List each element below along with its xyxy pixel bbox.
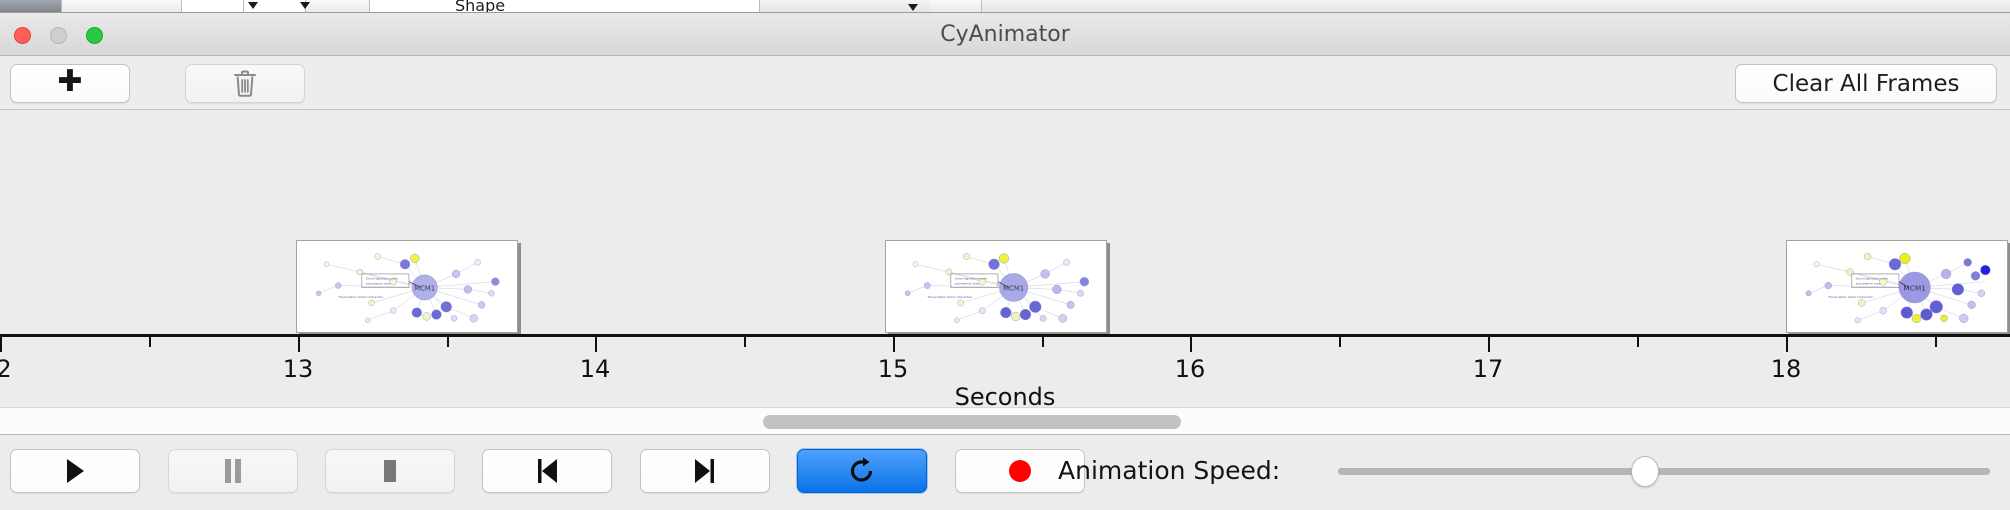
svg-text:MCM1: MCM1	[1003, 284, 1024, 292]
axis-tick-major	[595, 334, 597, 352]
axis-tick-minor	[1339, 337, 1341, 347]
skip-forward-icon	[693, 458, 717, 484]
loop-icon	[849, 457, 875, 485]
timeline-axis	[0, 334, 2010, 337]
bg-segment	[0, 0, 62, 13]
network-graph-preview: MCM1	[299, 243, 515, 330]
add-frame-button[interactable]: ✚	[10, 64, 130, 103]
delete-frame-button[interactable]	[185, 64, 305, 103]
cyanimator-window: Shape CyAnimator ✚ Clear All Frames	[0, 0, 2010, 510]
timeline-scrollbar[interactable]	[0, 407, 2010, 435]
network-graph-preview: MCM1	[888, 243, 1104, 330]
scrollbar-thumb[interactable]	[763, 415, 1181, 429]
skip-forward-button[interactable]	[640, 449, 770, 493]
axis-tick-major	[1488, 334, 1490, 352]
axis-tick-major	[1786, 334, 1788, 352]
axis-tick-minor	[1637, 337, 1639, 347]
axis-tick-major	[1190, 334, 1192, 352]
svg-text:Gene regulatory node: Gene regulatory node	[1856, 277, 1888, 281]
frame-thumbnail[interactable]: MCM1	[1786, 240, 2008, 333]
axis-tick-minor	[744, 337, 746, 347]
svg-text:Gene regulatory node: Gene regulatory node	[955, 277, 987, 281]
page-title: CyAnimator	[0, 13, 2010, 56]
bg-marker-icon	[300, 2, 310, 9]
background-window[interactable]: Shape	[0, 0, 2010, 13]
svg-text:MCM1: MCM1	[1903, 283, 1926, 292]
stop-icon	[380, 458, 400, 484]
stop-button[interactable]	[325, 449, 455, 493]
slider-track	[1338, 468, 1990, 475]
toolbar: ✚ Clear All Frames	[0, 56, 2010, 110]
network-graph-preview: MCM1	[1789, 243, 2005, 330]
animation-speed-slider[interactable]	[1338, 449, 1990, 493]
timeline-panel[interactable]: MCM1	[0, 110, 2010, 407]
svg-text:Transcription factor interacti: Transcription factor interaction	[1827, 295, 1873, 299]
axis-tick-label: 13	[283, 355, 314, 383]
axis-tick-major	[298, 334, 300, 352]
axis-tick-minor	[149, 337, 151, 347]
svg-text:subnetwork view: subnetwork view	[1856, 282, 1881, 286]
axis-tick-minor	[1042, 337, 1044, 347]
skip-backward-icon	[535, 458, 559, 484]
axis-tick-label: 15	[878, 355, 909, 383]
svg-text:Transcription factor interacti: Transcription factor interaction	[337, 295, 383, 299]
axis-tick-label: 16	[1175, 355, 1206, 383]
play-icon	[64, 458, 86, 484]
svg-text:subnetwork view: subnetwork view	[955, 282, 980, 286]
frame-thumbnail[interactable]: MCM1	[885, 240, 1107, 333]
plus-icon: ✚	[57, 67, 82, 97]
bg-segment	[370, 0, 760, 13]
play-button[interactable]	[10, 449, 140, 493]
skip-backward-button[interactable]	[482, 449, 612, 493]
bg-marker-icon	[908, 4, 918, 11]
pause-button[interactable]	[168, 449, 298, 493]
axis-tick-minor	[1935, 337, 1937, 347]
loop-button[interactable]	[797, 449, 927, 493]
axis-tick-minor	[447, 337, 449, 347]
axis-tick-label: 18	[1771, 355, 1802, 383]
pause-icon	[223, 458, 243, 484]
axis-tick-label: 14	[580, 355, 611, 383]
axis-title: Seconds	[0, 383, 2010, 407]
bg-segment	[306, 0, 370, 13]
clear-all-frames-button[interactable]: Clear All Frames	[1735, 64, 1997, 103]
playback-bar: Animation Speed:	[0, 436, 2010, 510]
animation-speed-label: Animation Speed:	[1058, 449, 1280, 493]
axis-tick-label: 2	[0, 355, 12, 383]
axis-tick-major	[0, 334, 2, 352]
slider-thumb[interactable]	[1631, 456, 1659, 487]
svg-text:subnetwork view: subnetwork view	[366, 282, 391, 286]
bg-segment	[182, 0, 244, 13]
svg-text:Gene regulatory node: Gene regulatory node	[366, 277, 398, 281]
bg-marker-icon	[248, 2, 258, 9]
svg-text:Transcription factor interacti: Transcription factor interaction	[926, 295, 972, 299]
bg-segment	[930, 0, 982, 13]
trash-icon	[233, 70, 257, 97]
background-window-text: Shape	[455, 0, 505, 13]
axis-tick-major	[893, 334, 895, 352]
axis-tick-label: 17	[1473, 355, 1504, 383]
record-icon	[1007, 458, 1033, 484]
frame-thumbnail[interactable]: MCM1	[296, 240, 518, 333]
title-bar: CyAnimator	[0, 13, 2010, 56]
bg-segment	[62, 0, 182, 13]
